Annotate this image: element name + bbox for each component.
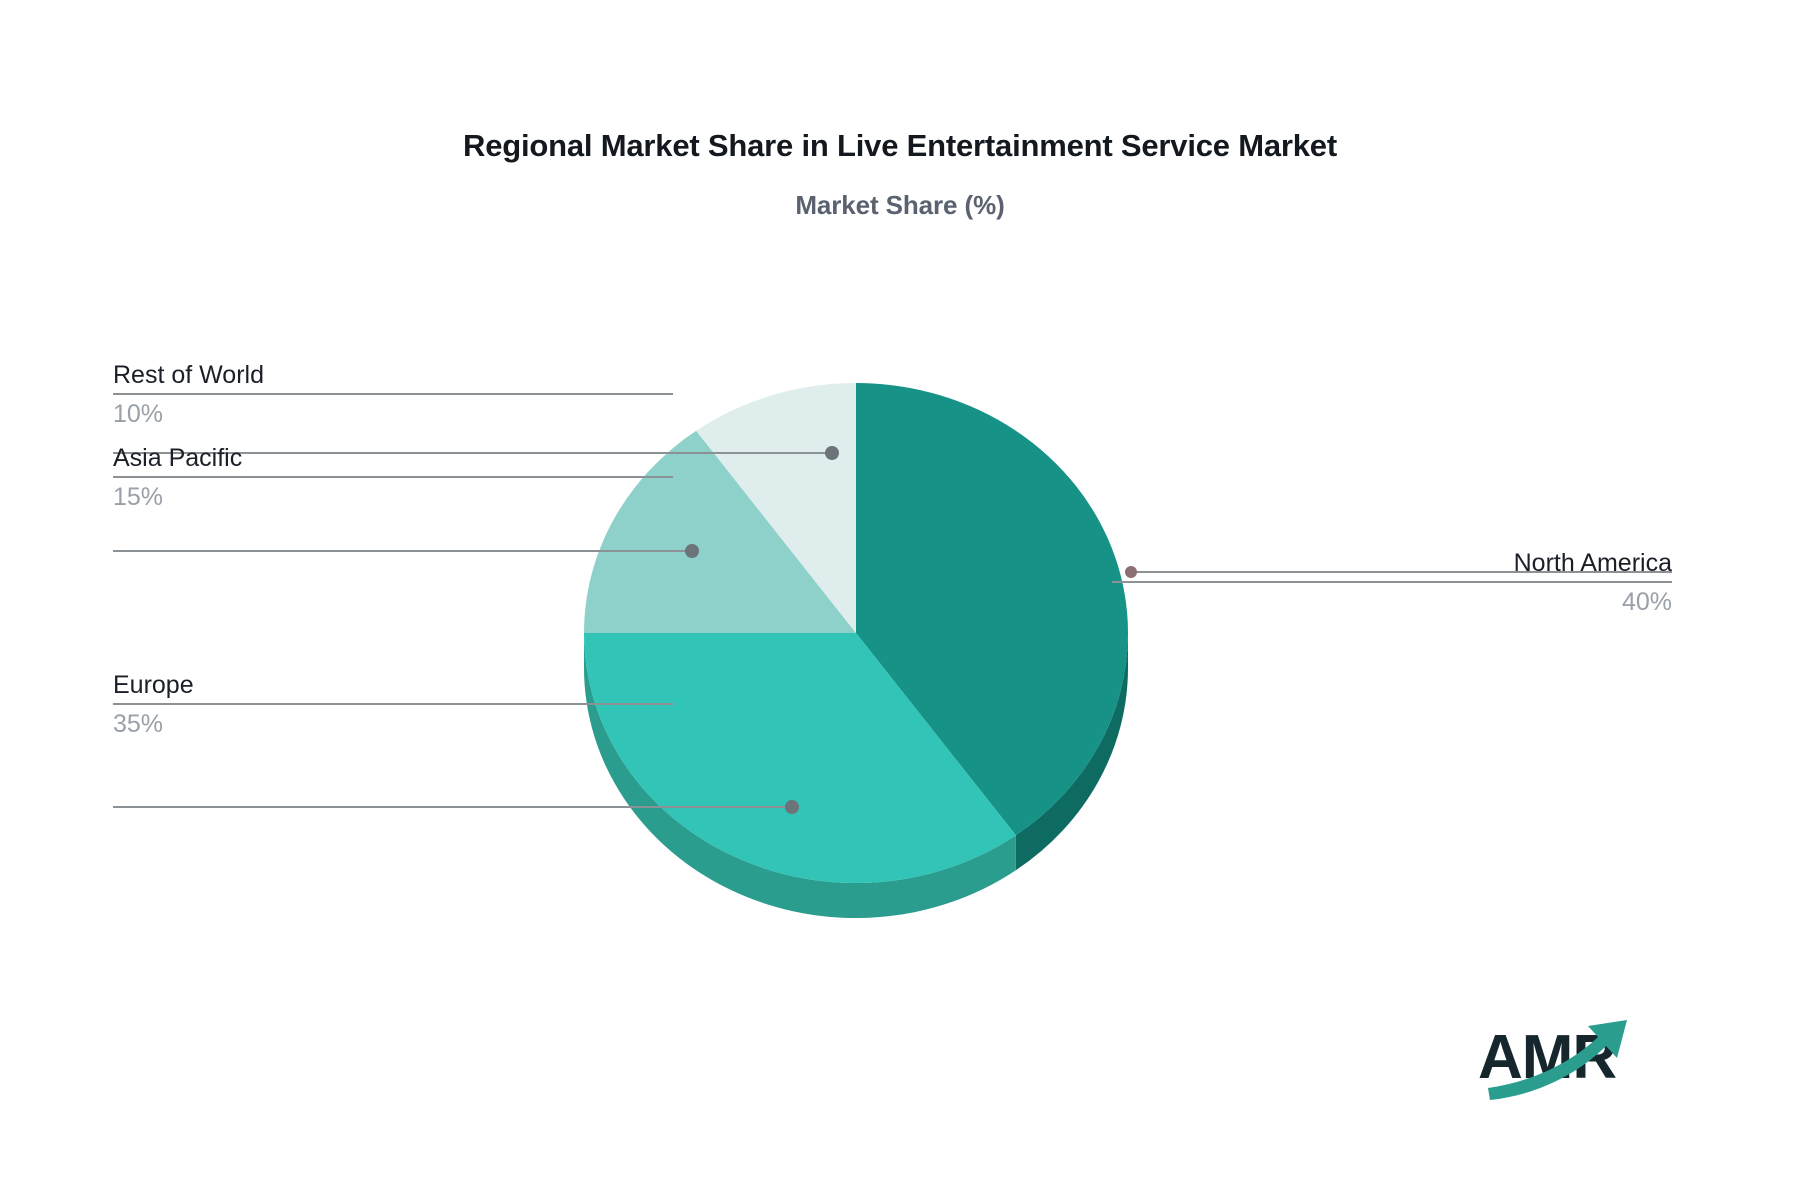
callout-value-asia-pacific: 15%: [113, 480, 673, 514]
callout-north-america: North America 40%: [1112, 548, 1672, 619]
pie-chart-figure: Regional Market Share in Live Entertainm…: [0, 0, 1800, 1196]
callout-label-europe: Europe: [113, 670, 673, 700]
callout-rule-asia-pacific: [113, 476, 673, 478]
callout-value-europe: 35%: [113, 707, 673, 741]
callout-rule-north-america: [1112, 581, 1672, 583]
callout-asia-pacific: Asia Pacific 15%: [113, 443, 673, 514]
leader-dot-europe: [785, 800, 799, 814]
callout-rest-of-world: Rest of World 10%: [113, 360, 673, 431]
callout-value-north-america: 40%: [1112, 585, 1672, 619]
callout-rule-rest-of-world: [113, 393, 673, 395]
callout-europe: Europe 35%: [113, 670, 673, 741]
callout-label-north-america: North America: [1112, 548, 1672, 578]
leader-dot-rest-of-world: [825, 446, 839, 460]
amr-logo: AMR: [1478, 1020, 1627, 1100]
callout-rule-europe: [113, 703, 673, 705]
leader-dot-asia-pacific: [685, 544, 699, 558]
callout-label-asia-pacific: Asia Pacific: [113, 443, 673, 473]
callout-label-rest-of-world: Rest of World: [113, 360, 673, 390]
callout-value-rest-of-world: 10%: [113, 397, 673, 431]
